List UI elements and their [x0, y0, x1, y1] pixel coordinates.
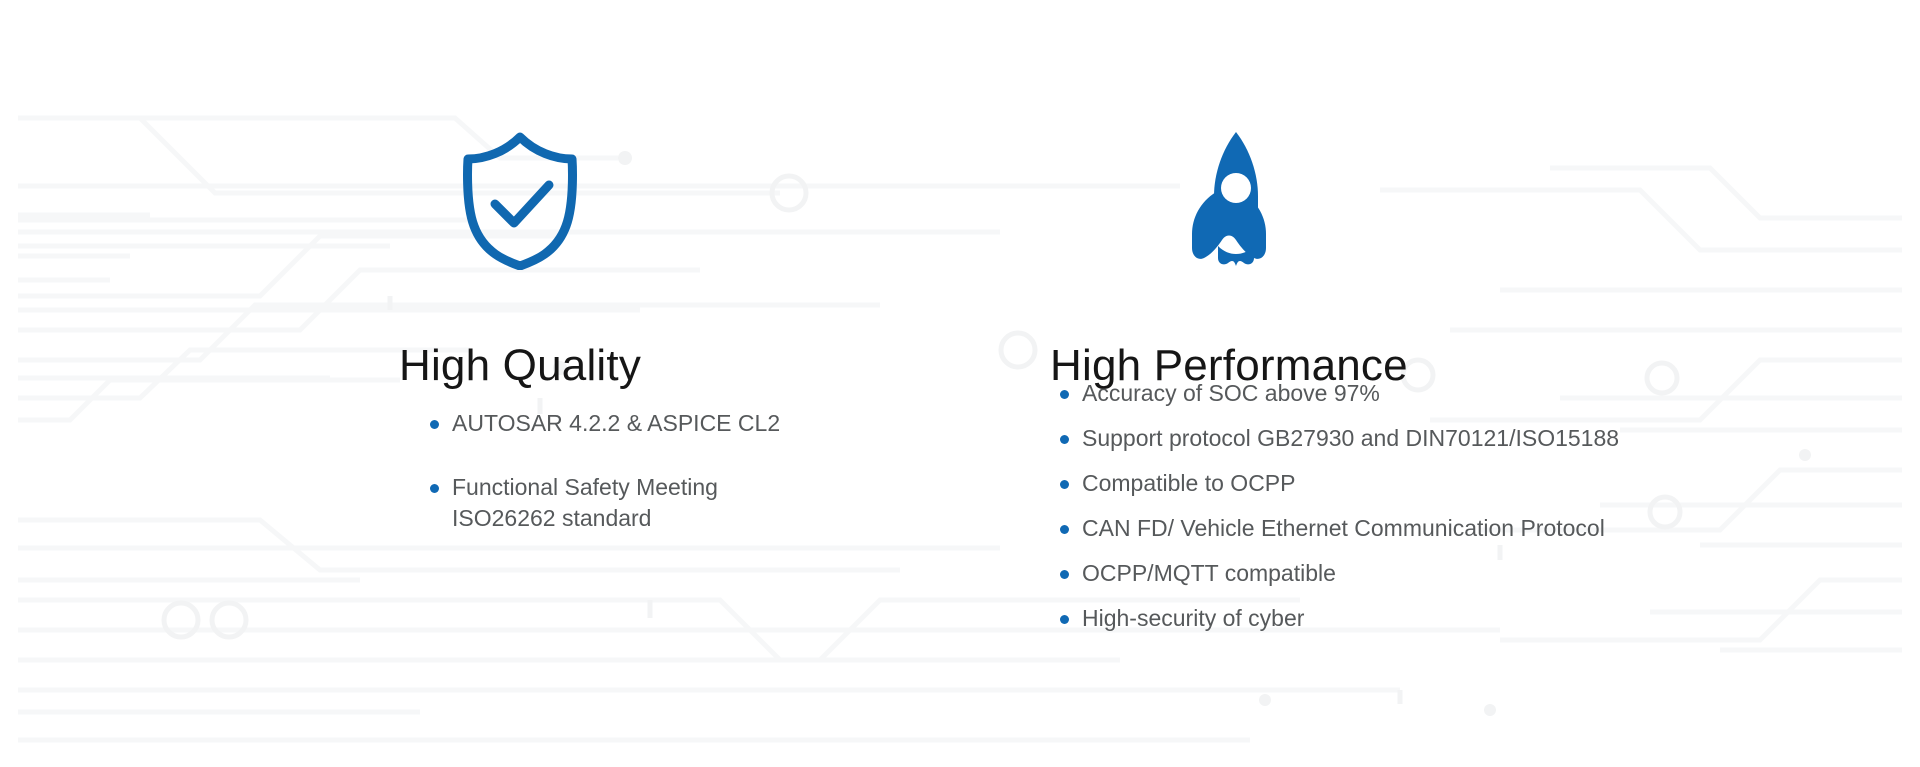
shield-check-icon [457, 130, 583, 270]
list-item-text: Functional Safety Meeting ISO26262 stand… [452, 474, 718, 531]
bullet-dot-icon [1060, 570, 1069, 579]
list-item: Accuracy of SOC above 97% [1060, 378, 1760, 409]
rocket-icon-wrapper [920, 125, 1580, 270]
list-item: Functional Safety Meeting ISO26262 stand… [430, 472, 850, 534]
list-item-text: High-security of cyber [1082, 605, 1304, 631]
list-item-text: Accuracy of SOC above 97% [1082, 380, 1380, 406]
bullet-dot-icon [1060, 615, 1069, 624]
bullet-dot-icon [1060, 390, 1069, 399]
list-item-text: OCPP/MQTT compatible [1082, 560, 1336, 586]
bullet-dot-icon [1060, 525, 1069, 534]
feature-bullet-list-high-performance: Accuracy of SOC above 97% Support protoc… [1060, 378, 1760, 648]
list-item: Support protocol GB27930 and DIN70121/IS… [1060, 423, 1760, 454]
list-item: High-security of cyber [1060, 603, 1760, 634]
bullet-dot-icon [1060, 480, 1069, 489]
feature-bullet-list-high-quality: AUTOSAR 4.2.2 & ASPICE CL2 Functional Sa… [430, 408, 850, 567]
bullet-dot-icon [430, 420, 439, 429]
list-item-text: Compatible to OCPP [1082, 470, 1295, 496]
list-item: AUTOSAR 4.2.2 & ASPICE CL2 [430, 408, 850, 439]
rocket-icon [1190, 130, 1282, 270]
bullet-dot-icon [1060, 435, 1069, 444]
list-item: Compatible to OCPP [1060, 468, 1760, 499]
list-item-text: CAN FD/ Vehicle Ethernet Communication P… [1082, 515, 1605, 541]
list-item-text: AUTOSAR 4.2.2 & ASPICE CL2 [452, 410, 780, 436]
list-item-text: Support protocol GB27930 and DIN70121/IS… [1082, 425, 1619, 451]
feature-title-high-quality: High Quality [200, 344, 840, 388]
bullet-dot-icon [430, 484, 439, 493]
list-item: OCPP/MQTT compatible [1060, 558, 1760, 589]
shield-check-icon-wrapper [200, 125, 840, 270]
list-item: CAN FD/ Vehicle Ethernet Communication P… [1060, 513, 1760, 544]
